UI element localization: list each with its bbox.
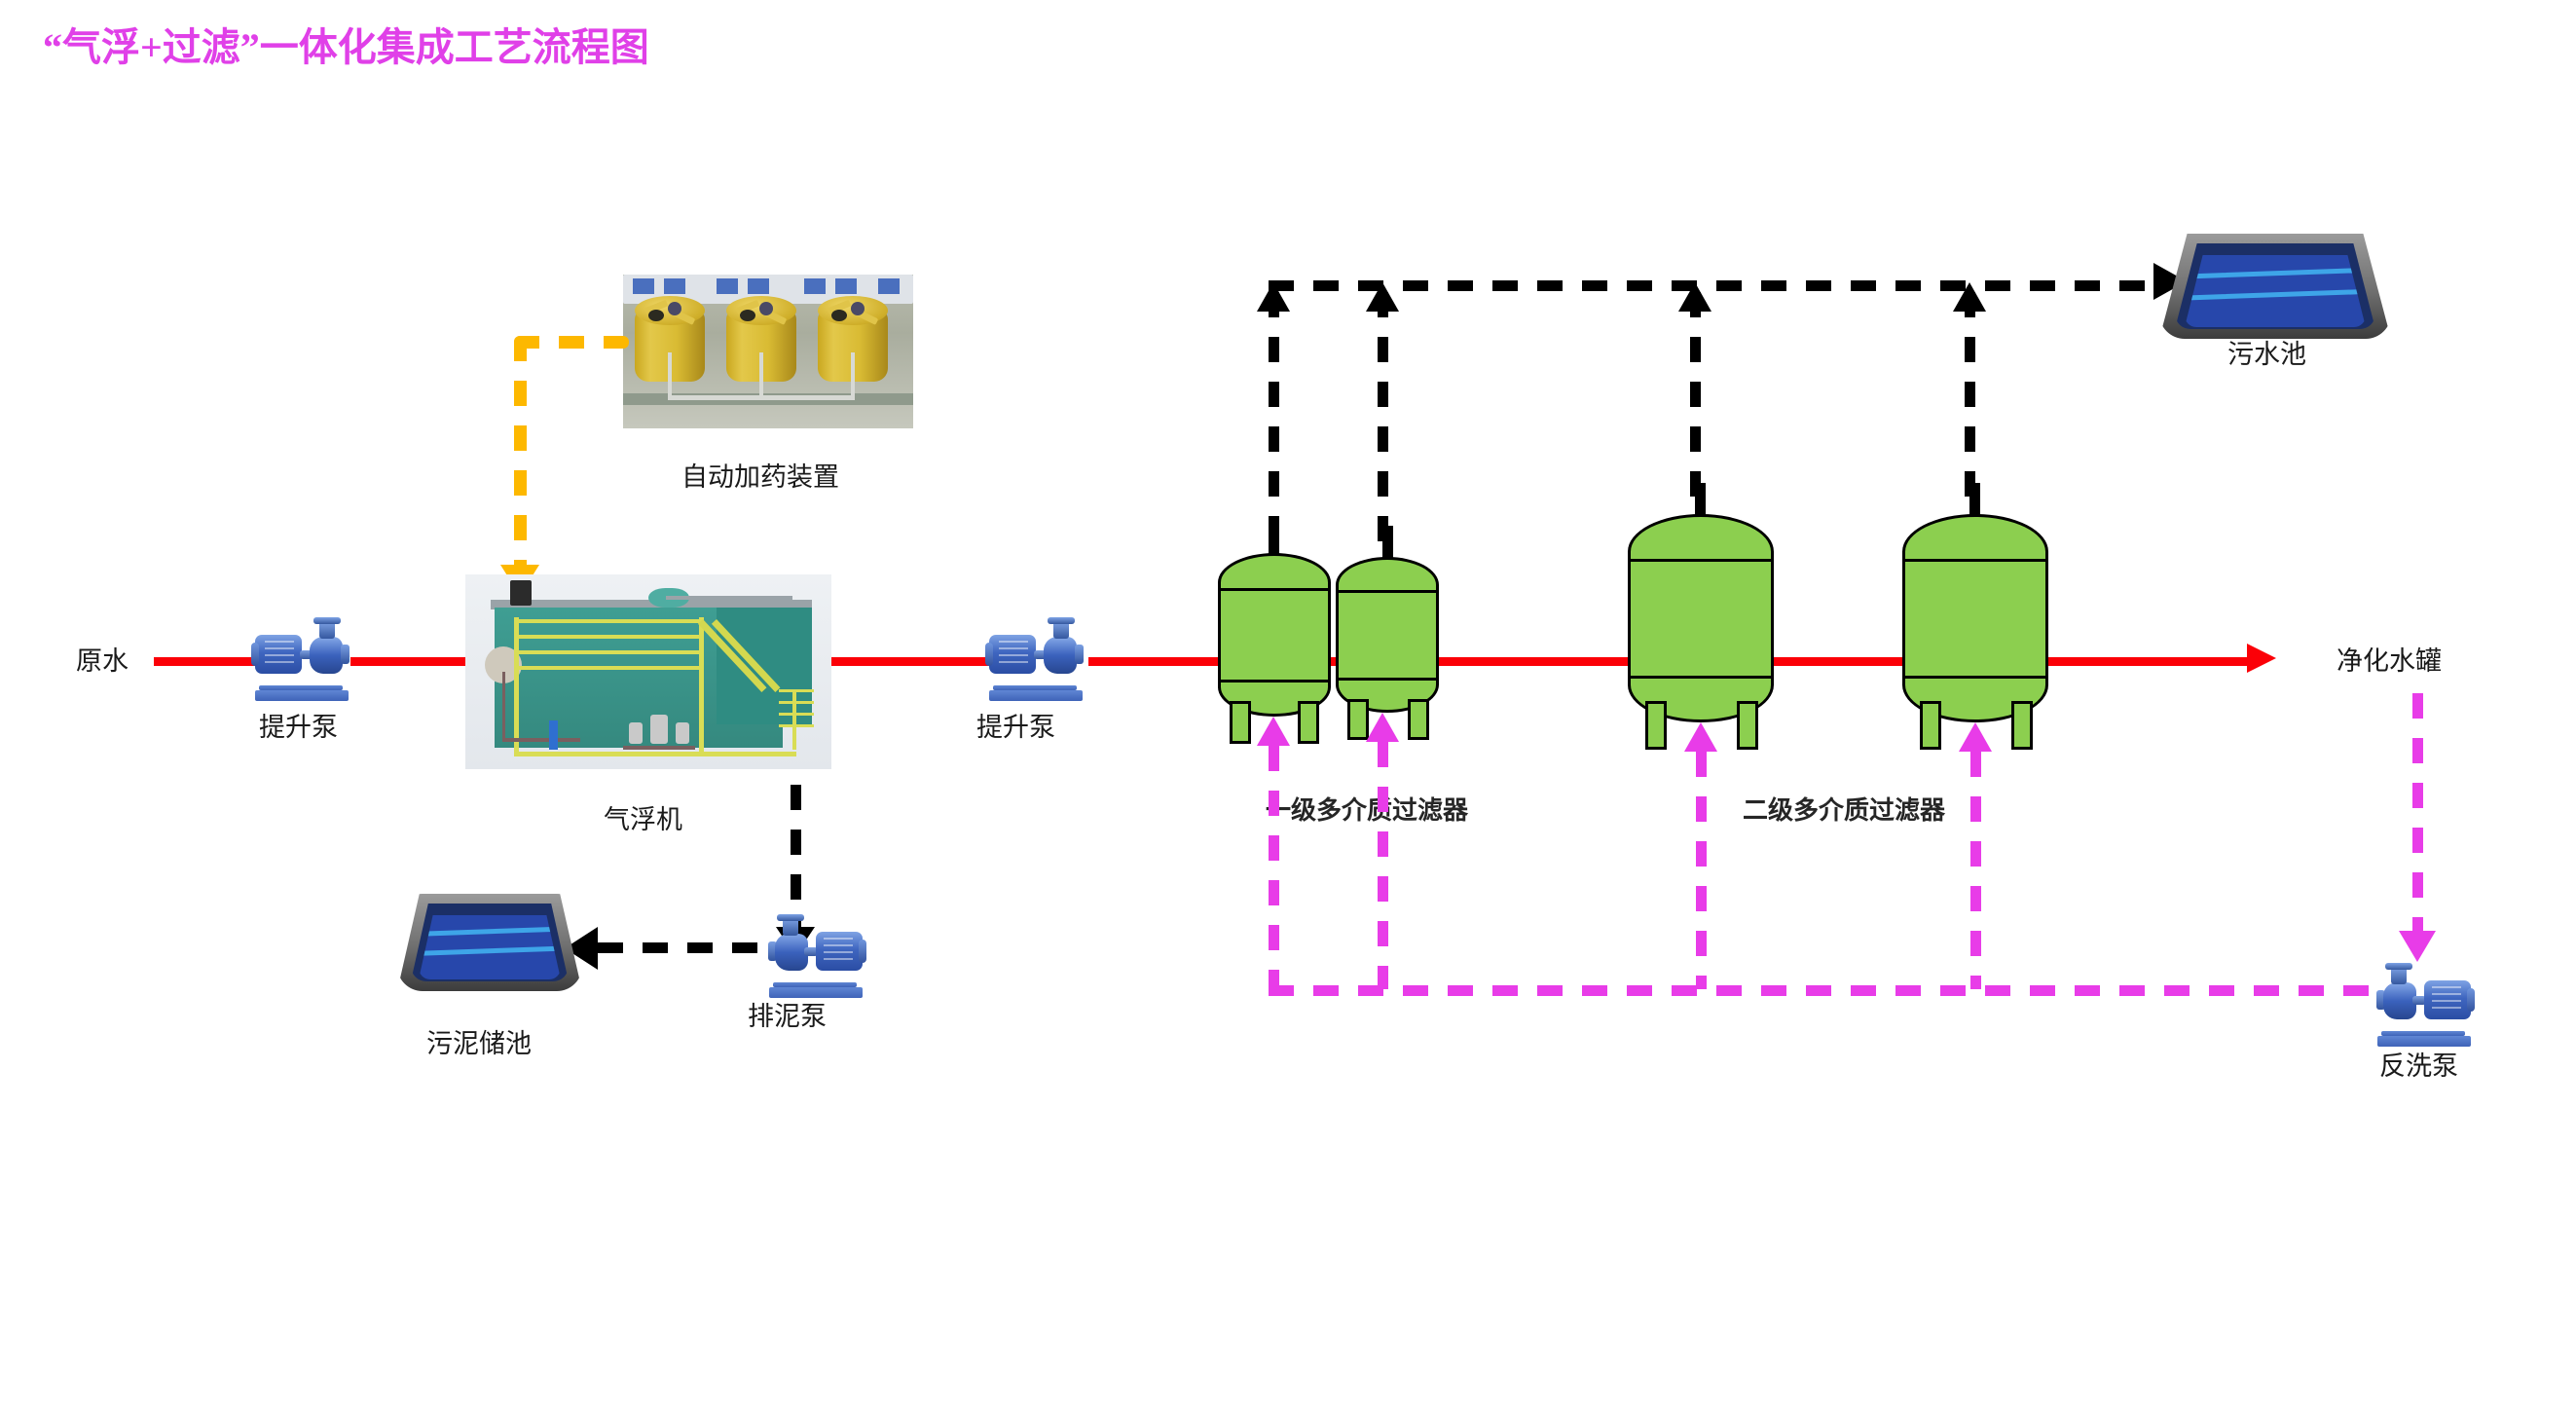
daf-unit[interactable] bbox=[465, 574, 831, 769]
red-arrow-to-purified-tank bbox=[2247, 644, 2276, 673]
red-line-daf-to-pump2 bbox=[829, 657, 995, 666]
dosing-line-vertical bbox=[514, 336, 527, 574]
backwash-supply-arrow-1a bbox=[1257, 717, 1290, 746]
wastewater-pool[interactable] bbox=[2159, 234, 2391, 339]
filter-vessel-1a[interactable] bbox=[1218, 553, 1331, 717]
dosing-line-horizontal bbox=[514, 336, 629, 349]
raw-water-label: 原水 bbox=[76, 640, 129, 678]
lift-pump-1[interactable] bbox=[251, 613, 356, 701]
filter-vessel-1b[interactable] bbox=[1336, 557, 1439, 713]
sludge-pump[interactable] bbox=[761, 910, 866, 998]
backwash-waste-arrow-up-2b bbox=[1953, 282, 1986, 312]
dosing-device-label: 自动加药装置 bbox=[681, 456, 839, 494]
filter-vessel-2a[interactable] bbox=[1628, 514, 1774, 722]
lift-pump-2[interactable] bbox=[985, 613, 1090, 701]
backwash-supply-drop-from-tank bbox=[2412, 693, 2423, 939]
backwash-supply-arrow-2a bbox=[1684, 722, 1717, 752]
filter-stage-2-label: 二级多介质过滤器 bbox=[1743, 791, 1945, 827]
backwash-supply-riser-1b bbox=[1378, 742, 1388, 989]
lift-pump-2-label: 提升泵 bbox=[976, 706, 1055, 744]
backwash-waste-arrow-up-1a bbox=[1257, 282, 1290, 312]
sludge-line-to-pool bbox=[598, 942, 771, 953]
backwash-waste-arrow-up-1b bbox=[1366, 282, 1399, 312]
backwash-supply-riser-1a bbox=[1269, 746, 1279, 989]
backwash-pump-label: 反洗泵 bbox=[2379, 1045, 2458, 1083]
dosing-device-image bbox=[623, 275, 913, 428]
sludge-storage-pool[interactable] bbox=[397, 894, 582, 991]
backwash-pump[interactable] bbox=[2370, 959, 2475, 1047]
filter-stage-1-label: 一级多介质过滤器 bbox=[1266, 791, 1468, 827]
red-line-pump1-to-daf bbox=[350, 657, 467, 666]
backwash-supply-header bbox=[1269, 985, 2396, 996]
backwash-waste-riser-2a bbox=[1690, 292, 1701, 514]
process-flow-diagram: “气浮+过滤”一体化集成工艺流程图 净化水罐 原水 提升泵 bbox=[0, 0, 2576, 1402]
backwash-waste-header bbox=[1269, 280, 2159, 291]
filter-vessel-2b[interactable] bbox=[1902, 514, 2048, 722]
page-title: “气浮+过滤”一体化集成工艺流程图 bbox=[43, 16, 649, 72]
wastewater-pool-label: 污水池 bbox=[2227, 333, 2306, 371]
backwash-supply-riser-2a bbox=[1696, 752, 1707, 989]
sludge-storage-pool-label: 污泥储池 bbox=[426, 1022, 532, 1060]
backwash-supply-arrow-1b bbox=[1366, 713, 1399, 742]
backwash-waste-riser-1b bbox=[1378, 292, 1388, 557]
sludge-pump-label: 排泥泵 bbox=[748, 995, 827, 1033]
backwash-supply-riser-2b bbox=[1970, 752, 1981, 989]
backwash-waste-riser-2b bbox=[1965, 292, 1975, 514]
backwash-waste-riser-1a bbox=[1269, 292, 1279, 553]
purified-water-tank-label: 净化水罐 bbox=[2337, 640, 2442, 678]
daf-label: 气浮机 bbox=[604, 798, 682, 836]
backwash-supply-arrow-down bbox=[2399, 931, 2436, 962]
lift-pump-1-label: 提升泵 bbox=[259, 706, 338, 744]
red-line-raw-to-pump1 bbox=[154, 657, 259, 666]
backwash-supply-arrow-2b bbox=[1959, 722, 1992, 752]
backwash-waste-arrow-up-2a bbox=[1678, 282, 1711, 312]
